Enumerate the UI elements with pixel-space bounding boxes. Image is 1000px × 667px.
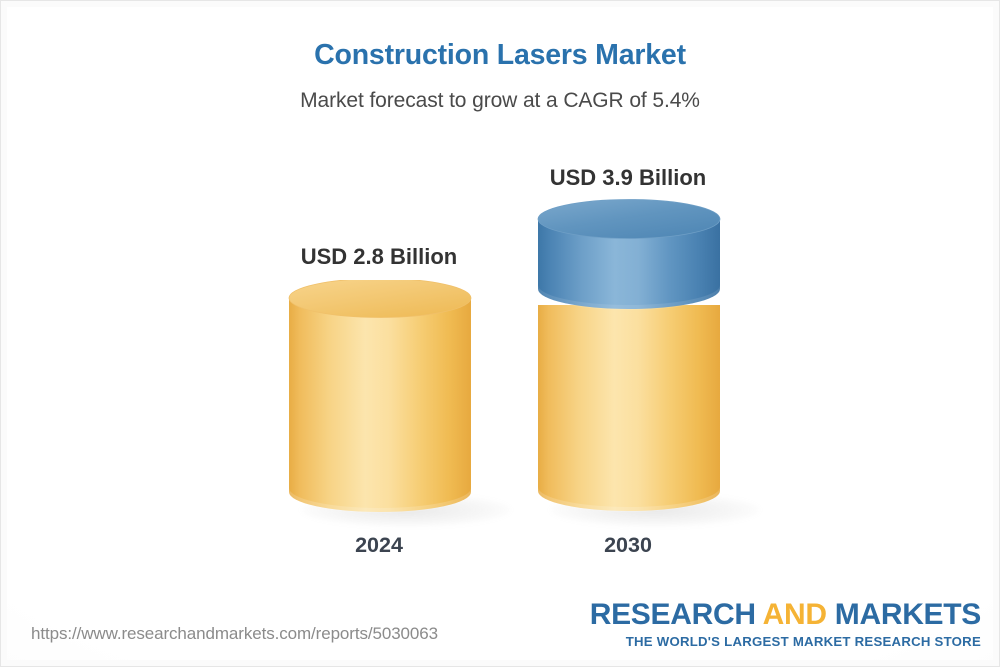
logo-text-markets: MARKETS [827, 598, 981, 631]
value-label-2024: USD 2.8 Billion [219, 244, 539, 270]
logo-text-and: AND [763, 598, 827, 631]
cylinder-2024 [287, 280, 473, 520]
cylinder-2030 [536, 199, 722, 519]
logo-tagline: THE WORLD'S LARGEST MARKET RESEARCH STOR… [590, 635, 981, 648]
report-url[interactable]: https://www.researchandmarkets.com/repor… [31, 624, 438, 644]
cylinder-chart: USD 2.8 Billion [1, 1, 1000, 667]
logo-text-research: RESEARCH [590, 598, 763, 631]
infographic-canvas: Construction Lasers Market Market foreca… [0, 0, 1000, 667]
logo-wordmark: RESEARCH AND MARKETS [590, 600, 981, 630]
researchandmarkets-logo[interactable]: RESEARCH AND MARKETS THE WORLD'S LARGEST… [590, 600, 981, 648]
value-label-2030: USD 3.9 Billion [468, 165, 788, 191]
category-label-2030: 2030 [468, 533, 788, 558]
